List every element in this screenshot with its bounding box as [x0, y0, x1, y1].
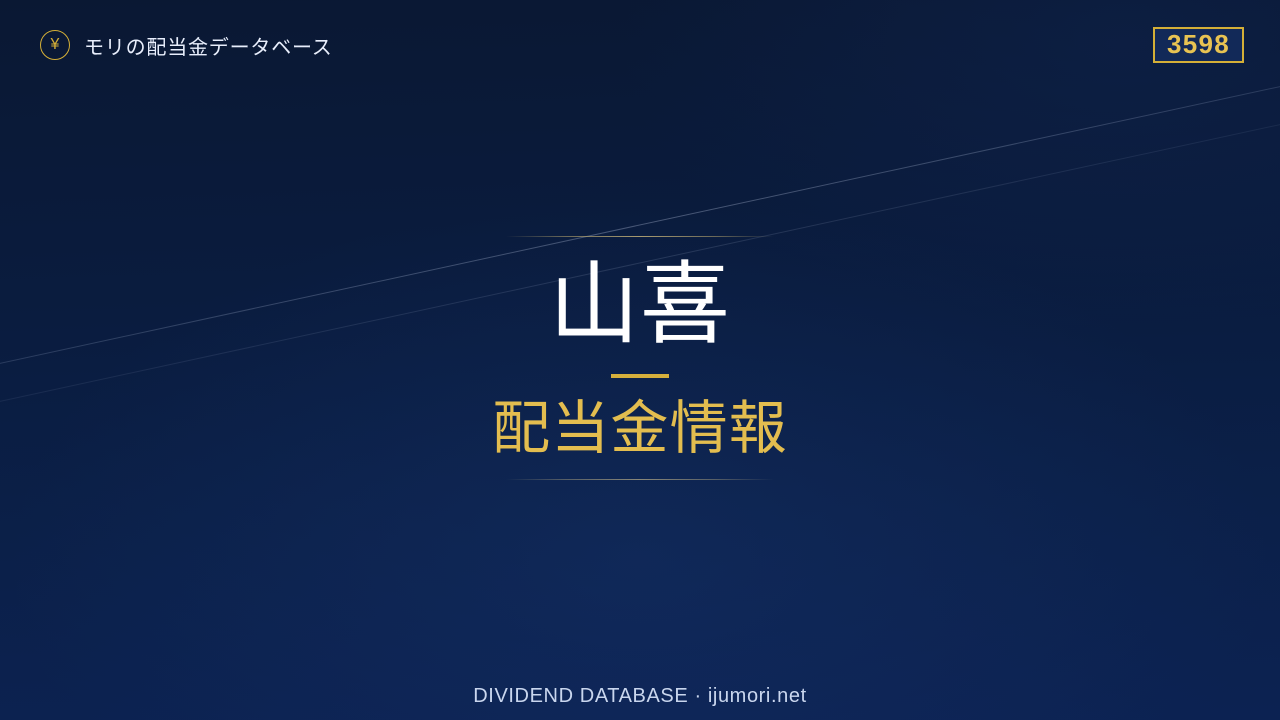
page-header: ¥ モリの配当金データベース 3598 — [0, 0, 1280, 90]
hero-bottom-rule — [506, 479, 774, 480]
page-subtitle: 配当金情報 — [492, 394, 788, 464]
brand-block[interactable]: ¥ モリの配当金データベース — [40, 30, 333, 60]
slide-canvas: ¥ モリの配当金データベース 3598 山喜 配当金情報 DIVIDEND DA… — [0, 0, 1280, 720]
hero-top-rule — [506, 236, 774, 237]
hero-block: 山喜 配当金情報 — [0, 236, 1280, 480]
gold-divider — [611, 374, 669, 378]
yen-circle-icon: ¥ — [40, 30, 70, 60]
footer-caption: DIVIDEND DATABASE · ijumori.net — [473, 685, 806, 707]
page-footer: DIVIDEND DATABASE · ijumori.net — [0, 685, 1280, 708]
brand-title: モリの配当金データベース — [84, 31, 333, 60]
ticker-code-badge: 3598 — [1153, 27, 1244, 63]
company-name: 山喜 — [549, 255, 731, 356]
